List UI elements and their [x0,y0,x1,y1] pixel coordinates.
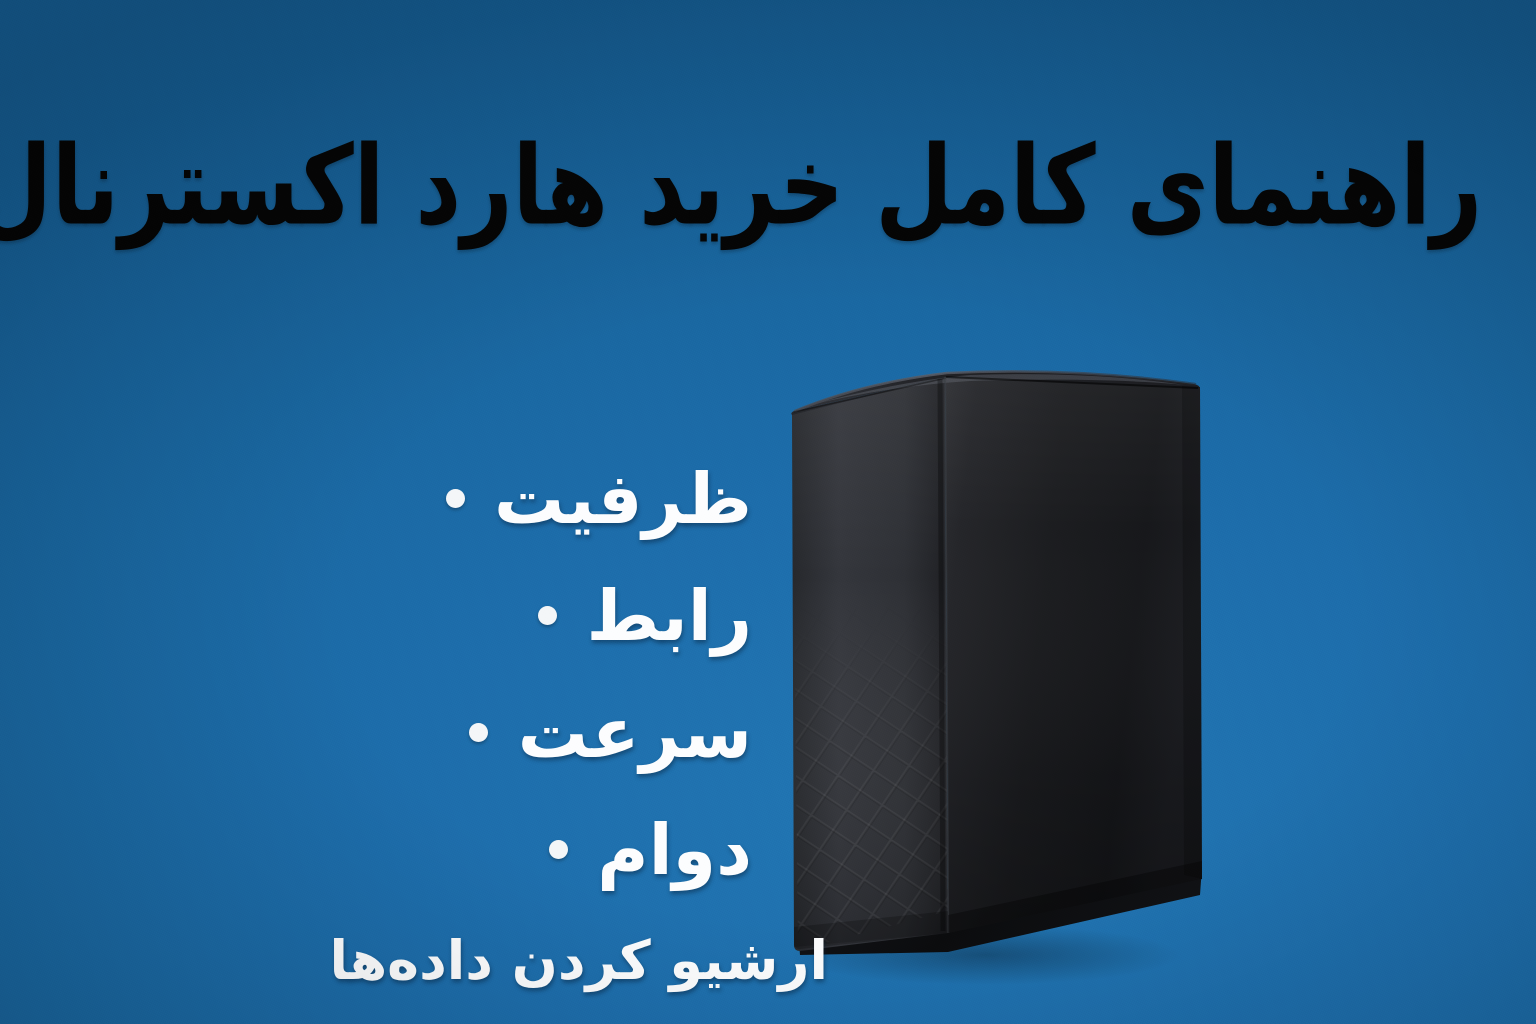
external-hard-drive-image [770,355,1220,975]
feature-tail-text: ارشیو کردن داده‌ها [0,928,828,994]
poster-canvas: راهنمای کامل خرید هارد اکسترنال ظرفیت را… [0,0,1536,1024]
bullet-dot-icon [469,723,488,742]
bullet-dot-icon [549,840,568,859]
list-item: دوام [0,791,752,908]
list-item: سرعت [0,674,752,791]
feature-label-interface: رابط [586,574,752,658]
poster-title: راهنمای کامل خرید هارد اکسترنال [54,124,1482,247]
feature-label-speed: سرعت [518,691,752,775]
bullet-dot-wrap [519,840,597,859]
bullet-dot-icon [538,606,557,625]
bullet-dot-wrap [416,489,494,508]
feature-label-durability: دوام [597,808,752,892]
bullet-dot-icon [446,489,465,508]
bullet-dot-wrap [508,606,586,625]
bullet-dot-wrap [440,723,518,742]
feature-label-capacity: ظرفیت [494,457,752,541]
feature-list: ظرفیت رابط سرعت دوام [0,440,752,908]
list-item: رابط [0,557,752,674]
list-item: ظرفیت [0,440,752,557]
drive-quilt-texture [792,377,948,947]
